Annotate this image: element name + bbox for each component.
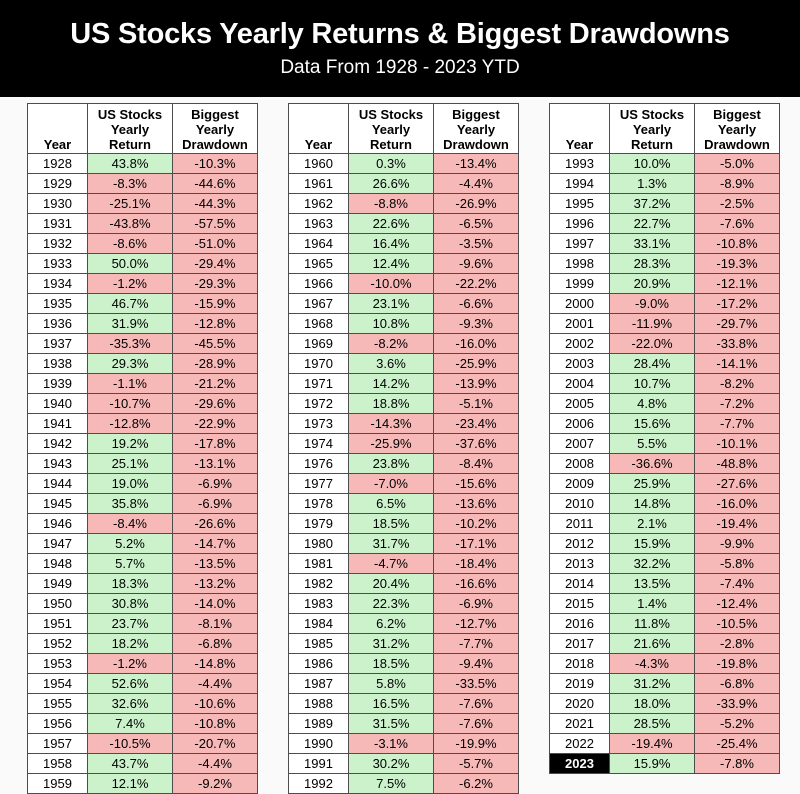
cell-biggest-drawdown: -44.6% bbox=[173, 174, 258, 194]
table-row: 201215.9%-9.9% bbox=[550, 534, 780, 554]
column-header-drawdown: Biggest Yearly Drawdown bbox=[434, 104, 519, 154]
cell-year: 1967 bbox=[289, 294, 349, 314]
table-row: 198322.3%-6.9% bbox=[289, 594, 519, 614]
table-row: 1966-10.0%-22.2% bbox=[289, 274, 519, 294]
cell-yearly-return: 7.5% bbox=[349, 774, 434, 794]
cell-biggest-drawdown: -5.2% bbox=[695, 714, 780, 734]
cell-yearly-return: -11.9% bbox=[610, 314, 695, 334]
cell-yearly-return: -43.8% bbox=[88, 214, 173, 234]
cell-year: 2015 bbox=[550, 594, 610, 614]
cell-year: 1933 bbox=[28, 254, 88, 274]
cell-yearly-return: -25.9% bbox=[349, 434, 434, 454]
cell-year: 1990 bbox=[289, 734, 349, 754]
cell-yearly-return: 46.7% bbox=[88, 294, 173, 314]
table-row: 194918.3%-13.2% bbox=[28, 574, 258, 594]
column-header-return: US Stocks Yearly Return bbox=[88, 104, 173, 154]
cell-yearly-return: 2.1% bbox=[610, 514, 695, 534]
cell-yearly-return: 19.2% bbox=[88, 434, 173, 454]
cell-biggest-drawdown: -13.1% bbox=[173, 454, 258, 474]
cell-biggest-drawdown: -9.3% bbox=[434, 314, 519, 334]
cell-biggest-drawdown: -14.7% bbox=[173, 534, 258, 554]
cell-biggest-drawdown: -29.4% bbox=[173, 254, 258, 274]
cell-year: 2017 bbox=[550, 634, 610, 654]
column-header-drawdown-line1: Biggest bbox=[173, 107, 257, 122]
cell-biggest-drawdown: -9.2% bbox=[173, 774, 258, 794]
table-row: 193350.0%-29.4% bbox=[28, 254, 258, 274]
cell-biggest-drawdown: -19.9% bbox=[434, 734, 519, 754]
cell-year: 1973 bbox=[289, 414, 349, 434]
cell-biggest-drawdown: -25.4% bbox=[695, 734, 780, 754]
cell-yearly-return: -10.0% bbox=[349, 274, 434, 294]
cell-biggest-drawdown: -18.4% bbox=[434, 554, 519, 574]
cell-yearly-return: -4.3% bbox=[610, 654, 695, 674]
cell-yearly-return: 15.9% bbox=[610, 534, 695, 554]
cell-year: 1955 bbox=[28, 694, 88, 714]
table-row: 19941.3%-8.9% bbox=[550, 174, 780, 194]
table-row: 199537.2%-2.5% bbox=[550, 194, 780, 214]
cell-yearly-return: -1.1% bbox=[88, 374, 173, 394]
cell-biggest-drawdown: -8.2% bbox=[695, 374, 780, 394]
cell-biggest-drawdown: -14.0% bbox=[173, 594, 258, 614]
table-row: 200925.9%-27.6% bbox=[550, 474, 780, 494]
table-row: 1957-10.5%-20.7% bbox=[28, 734, 258, 754]
column-header-return-line2: Yearly bbox=[88, 122, 172, 137]
cell-year: 1983 bbox=[289, 594, 349, 614]
cell-yearly-return: 18.0% bbox=[610, 694, 695, 714]
cell-biggest-drawdown: -29.6% bbox=[173, 394, 258, 414]
cell-yearly-return: -35.3% bbox=[88, 334, 173, 354]
cell-year: 1995 bbox=[550, 194, 610, 214]
table-row: 194535.8%-6.9% bbox=[28, 494, 258, 514]
cell-year: 2019 bbox=[550, 674, 610, 694]
cell-yearly-return: 16.4% bbox=[349, 234, 434, 254]
table-row: 200615.6%-7.7% bbox=[550, 414, 780, 434]
table-row: 195030.8%-14.0% bbox=[28, 594, 258, 614]
table-row: 199733.1%-10.8% bbox=[550, 234, 780, 254]
cell-year: 1997 bbox=[550, 234, 610, 254]
cell-biggest-drawdown: -29.7% bbox=[695, 314, 780, 334]
cell-yearly-return: 22.6% bbox=[349, 214, 434, 234]
cell-year: 1929 bbox=[28, 174, 88, 194]
cell-biggest-drawdown: -15.9% bbox=[173, 294, 258, 314]
cell-yearly-return: 43.8% bbox=[88, 154, 173, 174]
table-row: 201721.6%-2.8% bbox=[550, 634, 780, 654]
cell-year: 1960 bbox=[289, 154, 349, 174]
table-row: 20054.8%-7.2% bbox=[550, 394, 780, 414]
header-row: Year US Stocks Yearly Return Biggest Yea… bbox=[550, 104, 780, 154]
table-row: 199828.3%-19.3% bbox=[550, 254, 780, 274]
table-header: Year US Stocks Yearly Return Biggest Yea… bbox=[550, 104, 780, 154]
cell-yearly-return: -8.6% bbox=[88, 234, 173, 254]
cell-yearly-return: -25.1% bbox=[88, 194, 173, 214]
cell-biggest-drawdown: -6.6% bbox=[434, 294, 519, 314]
cell-year: 2013 bbox=[550, 554, 610, 574]
cell-year: 1932 bbox=[28, 234, 88, 254]
table-row: 197918.5%-10.2% bbox=[289, 514, 519, 534]
table-row: 20151.4%-12.4% bbox=[550, 594, 780, 614]
cell-year: 1944 bbox=[28, 474, 88, 494]
cell-yearly-return: 20.4% bbox=[349, 574, 434, 594]
cell-yearly-return: 50.0% bbox=[88, 254, 173, 274]
cell-yearly-return: 5.2% bbox=[88, 534, 173, 554]
cell-year: 1938 bbox=[28, 354, 88, 374]
cell-year: 1980 bbox=[289, 534, 349, 554]
table-row: 193631.9%-12.8% bbox=[28, 314, 258, 334]
cell-yearly-return: 13.5% bbox=[610, 574, 695, 594]
table-row: 201611.8%-10.5% bbox=[550, 614, 780, 634]
column-header-return-line1: US Stocks bbox=[349, 107, 433, 122]
cell-year: 1984 bbox=[289, 614, 349, 634]
cell-year: 1981 bbox=[289, 554, 349, 574]
column-header-drawdown-line3: Drawdown bbox=[695, 137, 779, 152]
cell-year: 1972 bbox=[289, 394, 349, 414]
cell-biggest-drawdown: -37.6% bbox=[434, 434, 519, 454]
cell-biggest-drawdown: -6.9% bbox=[173, 494, 258, 514]
table-row: 195218.2%-6.8% bbox=[28, 634, 258, 654]
table-row: 1939-1.1%-21.2% bbox=[28, 374, 258, 394]
cell-year: 1954 bbox=[28, 674, 88, 694]
cell-year: 1949 bbox=[28, 574, 88, 594]
table-row: 2001-11.9%-29.7% bbox=[550, 314, 780, 334]
table-row: 19786.5%-13.6% bbox=[289, 494, 519, 514]
cell-yearly-return: 22.3% bbox=[349, 594, 434, 614]
table-row: 195843.7%-4.4% bbox=[28, 754, 258, 774]
column-header-return: US Stocks Yearly Return bbox=[349, 104, 434, 154]
table-body-block-3: 199310.0%-5.0%19941.3%-8.9%199537.2%-2.5… bbox=[550, 154, 780, 774]
cell-year: 1936 bbox=[28, 314, 88, 334]
cell-yearly-return: 0.3% bbox=[349, 154, 434, 174]
table-row: 201332.2%-5.8% bbox=[550, 554, 780, 574]
table-row: 201413.5%-7.4% bbox=[550, 574, 780, 594]
table-row: 196416.4%-3.5% bbox=[289, 234, 519, 254]
cell-biggest-drawdown: -16.0% bbox=[695, 494, 780, 514]
column-header-drawdown-line1: Biggest bbox=[695, 107, 779, 122]
table-row: 194325.1%-13.1% bbox=[28, 454, 258, 474]
cell-year: 1962 bbox=[289, 194, 349, 214]
cell-biggest-drawdown: -8.1% bbox=[173, 614, 258, 634]
cell-biggest-drawdown: -8.9% bbox=[695, 174, 780, 194]
cell-year: 2022 bbox=[550, 734, 610, 754]
returns-table-block-1: Year US Stocks Yearly Return Biggest Yea… bbox=[27, 103, 258, 794]
cell-year: 1985 bbox=[289, 634, 349, 654]
cell-biggest-drawdown: -9.4% bbox=[434, 654, 519, 674]
cell-biggest-drawdown: -13.2% bbox=[173, 574, 258, 594]
cell-biggest-drawdown: -12.1% bbox=[695, 274, 780, 294]
cell-year: 1971 bbox=[289, 374, 349, 394]
cell-year: 1988 bbox=[289, 694, 349, 714]
cell-biggest-drawdown: -19.3% bbox=[695, 254, 780, 274]
cell-biggest-drawdown: -19.8% bbox=[695, 654, 780, 674]
cell-yearly-return: -8.8% bbox=[349, 194, 434, 214]
column-header-return-line1: US Stocks bbox=[88, 107, 172, 122]
cell-yearly-return: -36.6% bbox=[610, 454, 695, 474]
cell-yearly-return: 14.8% bbox=[610, 494, 695, 514]
column-header-drawdown-line1: Biggest bbox=[434, 107, 518, 122]
table-row: 19875.8%-33.5% bbox=[289, 674, 519, 694]
cell-yearly-return: 10.7% bbox=[610, 374, 695, 394]
cell-yearly-return: 43.7% bbox=[88, 754, 173, 774]
cell-yearly-return: -14.3% bbox=[349, 414, 434, 434]
cell-yearly-return: 18.5% bbox=[349, 514, 434, 534]
cell-year: 2016 bbox=[550, 614, 610, 634]
column-header-drawdown-line2: Yearly bbox=[173, 122, 257, 137]
cell-yearly-return: -10.5% bbox=[88, 734, 173, 754]
cell-yearly-return: 18.3% bbox=[88, 574, 173, 594]
cell-year: 1961 bbox=[289, 174, 349, 194]
cell-biggest-drawdown: -5.0% bbox=[695, 154, 780, 174]
cell-yearly-return: -8.4% bbox=[88, 514, 173, 534]
cell-year: 1979 bbox=[289, 514, 349, 534]
cell-biggest-drawdown: -26.6% bbox=[173, 514, 258, 534]
cell-yearly-return: -7.0% bbox=[349, 474, 434, 494]
cell-yearly-return: 31.5% bbox=[349, 714, 434, 734]
cell-biggest-drawdown: -3.5% bbox=[434, 234, 519, 254]
table-row: 1973-14.3%-23.4% bbox=[289, 414, 519, 434]
table-row: 196512.4%-9.6% bbox=[289, 254, 519, 274]
column-header-drawdown-line3: Drawdown bbox=[434, 137, 518, 152]
cell-yearly-return: 31.7% bbox=[349, 534, 434, 554]
table-header: Year US Stocks Yearly Return Biggest Yea… bbox=[289, 104, 519, 154]
cell-year: 1986 bbox=[289, 654, 349, 674]
cell-year: 2003 bbox=[550, 354, 610, 374]
cell-yearly-return: 4.8% bbox=[610, 394, 695, 414]
cell-year: 1970 bbox=[289, 354, 349, 374]
cell-yearly-return: -19.4% bbox=[610, 734, 695, 754]
cell-yearly-return: 37.2% bbox=[610, 194, 695, 214]
cell-biggest-drawdown: -13.6% bbox=[434, 494, 519, 514]
table-row: 197623.8%-8.4% bbox=[289, 454, 519, 474]
table-row: 202315.9%-7.8% bbox=[550, 754, 780, 774]
cell-yearly-return: 12.1% bbox=[88, 774, 173, 794]
cell-biggest-drawdown: -6.5% bbox=[434, 214, 519, 234]
cell-yearly-return: 20.9% bbox=[610, 274, 695, 294]
table-row: 198931.5%-7.6% bbox=[289, 714, 519, 734]
cell-yearly-return: -4.7% bbox=[349, 554, 434, 574]
cell-yearly-return: -9.0% bbox=[610, 294, 695, 314]
cell-year: 1991 bbox=[289, 754, 349, 774]
cell-yearly-return: -1.2% bbox=[88, 654, 173, 674]
cell-biggest-drawdown: -7.8% bbox=[695, 754, 780, 774]
cell-yearly-return: 5.5% bbox=[610, 434, 695, 454]
cell-year: 1999 bbox=[550, 274, 610, 294]
table-row: 198531.2%-7.7% bbox=[289, 634, 519, 654]
cell-biggest-drawdown: -14.8% bbox=[173, 654, 258, 674]
cell-biggest-drawdown: -5.8% bbox=[695, 554, 780, 574]
table-header: Year US Stocks Yearly Return Biggest Yea… bbox=[28, 104, 258, 154]
cell-biggest-drawdown: -7.6% bbox=[695, 214, 780, 234]
cell-yearly-return: -8.2% bbox=[349, 334, 434, 354]
table-row: 19475.2%-14.7% bbox=[28, 534, 258, 554]
cell-biggest-drawdown: -6.8% bbox=[695, 674, 780, 694]
table-row: 195123.7%-8.1% bbox=[28, 614, 258, 634]
cell-biggest-drawdown: -33.8% bbox=[695, 334, 780, 354]
cell-biggest-drawdown: -7.7% bbox=[434, 634, 519, 654]
cell-year: 2014 bbox=[550, 574, 610, 594]
table-row: 1990-3.1%-19.9% bbox=[289, 734, 519, 754]
cell-yearly-return: 10.8% bbox=[349, 314, 434, 334]
table-row: 19600.3%-13.4% bbox=[289, 154, 519, 174]
cell-biggest-drawdown: -12.4% bbox=[695, 594, 780, 614]
cell-biggest-drawdown: -33.5% bbox=[434, 674, 519, 694]
column-header-drawdown-line3: Drawdown bbox=[173, 137, 257, 152]
cell-year: 1968 bbox=[289, 314, 349, 334]
table-row: 1940-10.7%-29.6% bbox=[28, 394, 258, 414]
cell-yearly-return: 31.9% bbox=[88, 314, 173, 334]
cell-biggest-drawdown: -14.1% bbox=[695, 354, 780, 374]
cell-year: 1947 bbox=[28, 534, 88, 554]
cell-year: 1965 bbox=[289, 254, 349, 274]
cell-biggest-drawdown: -7.6% bbox=[434, 694, 519, 714]
cell-yearly-return: 10.0% bbox=[610, 154, 695, 174]
cell-biggest-drawdown: -6.9% bbox=[173, 474, 258, 494]
column-header-return-line3: Return bbox=[610, 137, 694, 152]
cell-year: 1946 bbox=[28, 514, 88, 534]
table-row: 2008-36.6%-48.8% bbox=[550, 454, 780, 474]
table-row: 199310.0%-5.0% bbox=[550, 154, 780, 174]
page-title: US Stocks Yearly Returns & Biggest Drawd… bbox=[0, 15, 800, 53]
cell-year: 1930 bbox=[28, 194, 88, 214]
table-row: 196723.1%-6.6% bbox=[289, 294, 519, 314]
table-row: 1931-43.8%-57.5% bbox=[28, 214, 258, 234]
cell-biggest-drawdown: -12.7% bbox=[434, 614, 519, 634]
column-header-return-line2: Yearly bbox=[349, 122, 433, 137]
cell-year: 1987 bbox=[289, 674, 349, 694]
table-row: 201014.8%-16.0% bbox=[550, 494, 780, 514]
header-row: Year US Stocks Yearly Return Biggest Yea… bbox=[28, 104, 258, 154]
column-header-return-line1: US Stocks bbox=[610, 107, 694, 122]
cell-biggest-drawdown: -57.5% bbox=[173, 214, 258, 234]
cell-year: 1943 bbox=[28, 454, 88, 474]
cell-biggest-drawdown: -22.2% bbox=[434, 274, 519, 294]
cell-year: 2018 bbox=[550, 654, 610, 674]
cell-biggest-drawdown: -23.4% bbox=[434, 414, 519, 434]
table-row: 20112.1%-19.4% bbox=[550, 514, 780, 534]
table-row: 198618.5%-9.4% bbox=[289, 654, 519, 674]
table-row: 194219.2%-17.8% bbox=[28, 434, 258, 454]
cell-biggest-drawdown: -4.4% bbox=[173, 754, 258, 774]
table-row: 20075.5%-10.1% bbox=[550, 434, 780, 454]
cell-biggest-drawdown: -7.2% bbox=[695, 394, 780, 414]
column-header-year: Year bbox=[550, 104, 610, 154]
column-header-drawdown-line2: Yearly bbox=[695, 122, 779, 137]
cell-year: 2001 bbox=[550, 314, 610, 334]
cell-biggest-drawdown: -17.2% bbox=[695, 294, 780, 314]
table-row: 1969-8.2%-16.0% bbox=[289, 334, 519, 354]
cell-yearly-return: 5.7% bbox=[88, 554, 173, 574]
cell-year: 1953 bbox=[28, 654, 88, 674]
cell-biggest-drawdown: -17.1% bbox=[434, 534, 519, 554]
cell-biggest-drawdown: -6.8% bbox=[173, 634, 258, 654]
table-row: 19927.5%-6.2% bbox=[289, 774, 519, 794]
cell-year: 1963 bbox=[289, 214, 349, 234]
cell-biggest-drawdown: -48.8% bbox=[695, 454, 780, 474]
table-row: 199130.2%-5.7% bbox=[289, 754, 519, 774]
table-row: 195912.1%-9.2% bbox=[28, 774, 258, 794]
cell-year: 1978 bbox=[289, 494, 349, 514]
cell-yearly-return: 16.5% bbox=[349, 694, 434, 714]
cell-year: 1998 bbox=[550, 254, 610, 274]
cell-year: 1969 bbox=[289, 334, 349, 354]
cell-biggest-drawdown: -19.4% bbox=[695, 514, 780, 534]
cell-year: 2007 bbox=[550, 434, 610, 454]
cell-biggest-drawdown: -21.2% bbox=[173, 374, 258, 394]
cell-biggest-drawdown: -9.6% bbox=[434, 254, 519, 274]
table-row: 1934-1.2%-29.3% bbox=[28, 274, 258, 294]
cell-biggest-drawdown: -2.8% bbox=[695, 634, 780, 654]
table-row: 2000-9.0%-17.2% bbox=[550, 294, 780, 314]
column-header-drawdown: Biggest Yearly Drawdown bbox=[695, 104, 780, 154]
cell-yearly-return: 26.6% bbox=[349, 174, 434, 194]
table-row: 1962-8.8%-26.9% bbox=[289, 194, 519, 214]
cell-yearly-return: 35.8% bbox=[88, 494, 173, 514]
cell-yearly-return: 18.2% bbox=[88, 634, 173, 654]
table-row: 2018-4.3%-19.8% bbox=[550, 654, 780, 674]
cell-year: 1945 bbox=[28, 494, 88, 514]
cell-yearly-return: 15.9% bbox=[610, 754, 695, 774]
table-row: 1946-8.4%-26.6% bbox=[28, 514, 258, 534]
page-subtitle: Data From 1928 - 2023 YTD bbox=[0, 55, 800, 81]
cell-yearly-return: 1.3% bbox=[610, 174, 695, 194]
table-row: 196810.8%-9.3% bbox=[289, 314, 519, 334]
cell-biggest-drawdown: -22.9% bbox=[173, 414, 258, 434]
cell-biggest-drawdown: -5.1% bbox=[434, 394, 519, 414]
returns-table-block-3: Year US Stocks Yearly Return Biggest Yea… bbox=[549, 103, 780, 774]
cell-biggest-drawdown: -7.4% bbox=[695, 574, 780, 594]
cell-biggest-drawdown: -16.6% bbox=[434, 574, 519, 594]
cell-yearly-return: 28.3% bbox=[610, 254, 695, 274]
cell-yearly-return: 28.4% bbox=[610, 354, 695, 374]
cell-yearly-return: 15.6% bbox=[610, 414, 695, 434]
cell-biggest-drawdown: -10.8% bbox=[173, 714, 258, 734]
table-row: 196322.6%-6.5% bbox=[289, 214, 519, 234]
cell-yearly-return: -10.7% bbox=[88, 394, 173, 414]
cell-yearly-return: 28.5% bbox=[610, 714, 695, 734]
cell-year: 1996 bbox=[550, 214, 610, 234]
cell-yearly-return: -12.8% bbox=[88, 414, 173, 434]
cell-yearly-return: 14.2% bbox=[349, 374, 434, 394]
table-row: 198220.4%-16.6% bbox=[289, 574, 519, 594]
cell-yearly-return: 23.8% bbox=[349, 454, 434, 474]
table-body-block-2: 19600.3%-13.4%196126.6%-4.4%1962-8.8%-26… bbox=[289, 154, 519, 794]
table-row: 193546.7%-15.9% bbox=[28, 294, 258, 314]
cell-yearly-return: -3.1% bbox=[349, 734, 434, 754]
table-row: 202018.0%-33.9% bbox=[550, 694, 780, 714]
cell-year: 2021 bbox=[550, 714, 610, 734]
cell-year: 1959 bbox=[28, 774, 88, 794]
cell-yearly-return: 31.2% bbox=[610, 674, 695, 694]
cell-year: 2004 bbox=[550, 374, 610, 394]
cell-biggest-drawdown: -12.8% bbox=[173, 314, 258, 334]
cell-biggest-drawdown: -5.7% bbox=[434, 754, 519, 774]
cell-year: 2000 bbox=[550, 294, 610, 314]
cell-biggest-drawdown: -10.2% bbox=[434, 514, 519, 534]
cell-year: 1958 bbox=[28, 754, 88, 774]
cell-year: 1976 bbox=[289, 454, 349, 474]
cell-biggest-drawdown: -13.4% bbox=[434, 154, 519, 174]
cell-year: 2009 bbox=[550, 474, 610, 494]
cell-biggest-drawdown: -27.6% bbox=[695, 474, 780, 494]
cell-yearly-return: 18.8% bbox=[349, 394, 434, 414]
table-row: 1981-4.7%-18.4% bbox=[289, 554, 519, 574]
table-row: 1930-25.1%-44.3% bbox=[28, 194, 258, 214]
cell-year: 1974 bbox=[289, 434, 349, 454]
cell-yearly-return: 52.6% bbox=[88, 674, 173, 694]
cell-yearly-return: 5.8% bbox=[349, 674, 434, 694]
cell-biggest-drawdown: -17.8% bbox=[173, 434, 258, 454]
cell-biggest-drawdown: -7.6% bbox=[434, 714, 519, 734]
cell-yearly-return: 25.1% bbox=[88, 454, 173, 474]
table-row: 202128.5%-5.2% bbox=[550, 714, 780, 734]
